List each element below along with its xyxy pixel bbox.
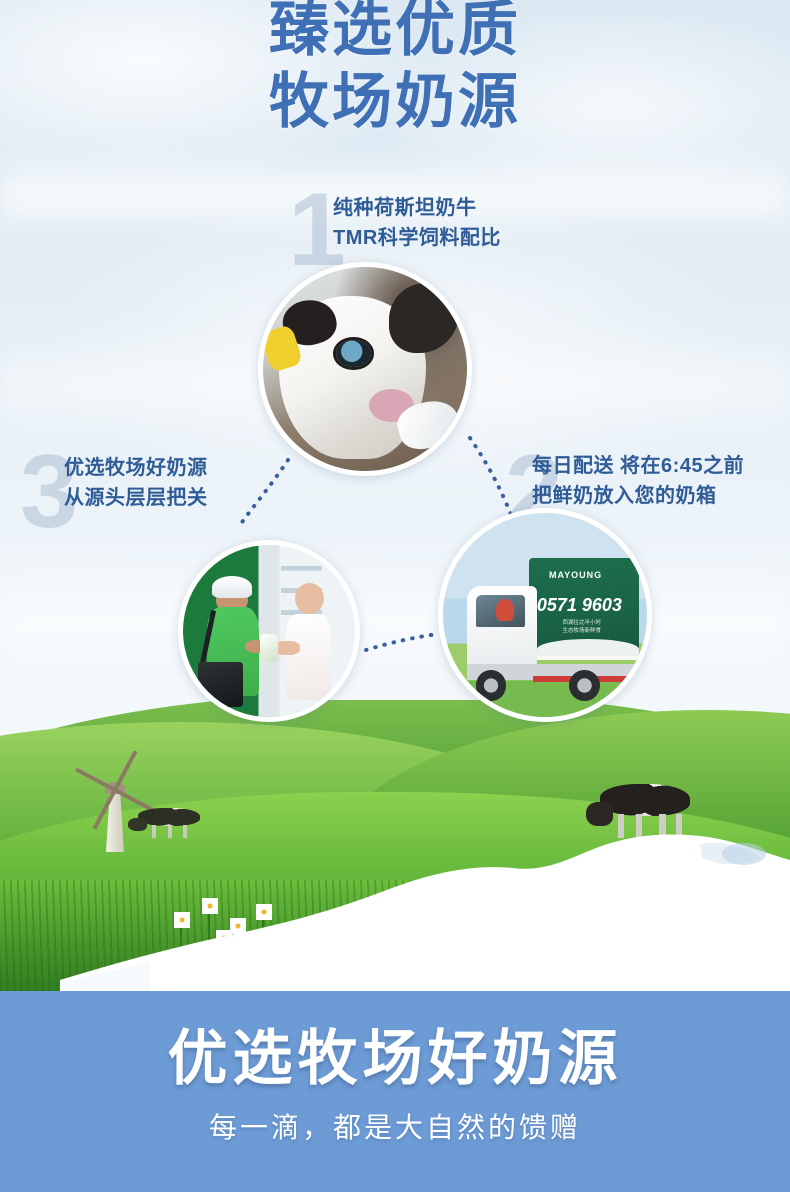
truck-brand-logo: MAYOUNG — [541, 566, 610, 584]
page-headline: 臻选优质 牧场奶源 — [0, 0, 790, 138]
step-1-photo-calf — [258, 262, 472, 476]
truck-hill-graphic — [537, 639, 639, 659]
truck-photo-background: MAYOUNG 0571 96037 西湖往北半小时 生态牧场新鲜食 — [443, 513, 647, 717]
milk-splash-graphic — [0, 830, 790, 1005]
milk-carton-icon — [260, 634, 277, 662]
woman-head — [295, 583, 324, 614]
step-3-caption: 优选牧场好奶源 从源头层层把关 — [64, 453, 208, 513]
delivery-bag — [198, 662, 243, 707]
cow-body — [138, 808, 200, 826]
step-1-caption-line-2: TMR科学饲料配比 — [333, 223, 501, 253]
step-3-photo-courier — [178, 540, 360, 722]
banner-subtitle: 每一滴，都是大自然的馈赠 — [0, 1109, 790, 1147]
helmet-icon — [212, 576, 252, 598]
calf-eye — [336, 340, 371, 367]
calf-photo-background — [263, 267, 467, 471]
truck-driver — [496, 599, 514, 621]
calf-patch — [389, 283, 458, 352]
truck-wheel — [476, 670, 507, 701]
courier-photo-background — [183, 545, 355, 717]
bottom-banner: 优选牧场好奶源 每一滴，都是大自然的馈赠 — [0, 991, 790, 1192]
step-3-caption-line-2: 从源头层层把关 — [64, 483, 208, 513]
step-3-caption-line-1: 优选牧场好奶源 — [64, 453, 208, 483]
cow-body — [600, 784, 690, 816]
cow-head — [586, 802, 613, 826]
banner-title: 优选牧场好奶源 — [0, 1021, 790, 1097]
truck-slogan: 西湖往北半小时 生态牧场新鲜食 — [549, 619, 614, 639]
woman-body — [286, 614, 331, 700]
step-2-caption-line-1: 每日配送 将在6:45之前 — [532, 451, 744, 481]
cloud-band — [0, 560, 790, 680]
step-2-photo-truck: MAYOUNG 0571 96037 西湖往北半小时 生态牧场新鲜食 — [438, 508, 652, 722]
step-2-caption-line-2: 把鲜奶放入您的奶箱 — [532, 481, 744, 511]
truck-wheel — [569, 670, 600, 701]
truck-phone-number: 0571 96037 — [537, 595, 623, 617]
headline-line-1: 臻选优质 — [269, 0, 521, 63]
step-1-caption: 纯种荷斯坦奶牛 TMR科学饲料配比 — [333, 193, 501, 253]
step-1-caption-line-1: 纯种荷斯坦奶牛 — [333, 193, 501, 223]
step-2-caption: 每日配送 将在6:45之前 把鲜奶放入您的奶箱 — [532, 451, 744, 511]
woman-arm — [274, 641, 300, 655]
product-detail-page: 臻选优质 牧场奶源 — [0, 0, 790, 1192]
headline-line-2: 牧场奶源 — [0, 66, 790, 138]
